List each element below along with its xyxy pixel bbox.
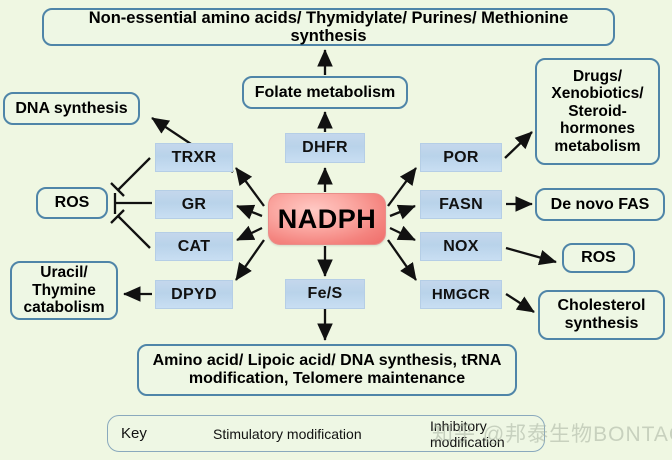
outcome-ros-left: ROS [36, 187, 108, 219]
enzyme-hmgcr: HMGCR [420, 280, 502, 309]
arrow-hub-to-hmgcr [388, 240, 416, 280]
enzyme-por: POR [420, 143, 502, 172]
nadph-hub: NADPH [268, 193, 386, 245]
arrow-hub-to-cat [237, 228, 262, 240]
outcome-de-novo-fas: De novo FAS [535, 188, 665, 221]
arrow-hub-to-dpyd [236, 240, 264, 280]
enzyme-cat: CAT [155, 232, 233, 261]
arrow-hub-to-nox [390, 228, 415, 240]
legend-stimulatory-label: Stimulatory modification [213, 426, 362, 442]
enzyme-fes: Fe/S [285, 279, 365, 309]
outcome-ros-right: ROS [562, 243, 635, 273]
enzyme-gr: GR [155, 190, 233, 219]
inhibitory-arrows-left [111, 158, 152, 248]
arrow-hub-to-gr [237, 206, 262, 216]
arrow-por-to-drugs [505, 132, 532, 158]
arrow-hub-to-fasn [390, 206, 415, 216]
enzyme-fasn: FASN [420, 190, 502, 219]
legend-title: Key [121, 425, 147, 442]
arrow-hmgcr-to-cholesterol [506, 294, 534, 312]
outcome-dna-synthesis: DNA synthesis [3, 92, 140, 125]
outcome-top-synthesis: Non-essential amino acids/ Thymidylate/ … [42, 8, 615, 46]
watermark: 知乎 @邦泰生物BONTAC [432, 418, 672, 448]
outcome-uracil-thymine-catabolism: Uracil/ Thymine catabolism [10, 261, 118, 320]
outcome-folate-metabolism: Folate metabolism [242, 76, 408, 109]
arrow-hub-to-por [388, 168, 416, 206]
arrow-hub-to-trxr [236, 168, 264, 206]
outcome-bottom-amino-acid: Amino acid/ Lipoic acid/ DNA synthesis, … [137, 344, 517, 396]
outcome-drugs-xenobiotics-steroid: Drugs/ Xenobiotics/ Steroid- hormones me… [535, 58, 660, 165]
outcome-cholesterol-synthesis: Cholesterol synthesis [538, 290, 665, 340]
enzyme-nox: NOX [420, 232, 502, 261]
enzyme-trxr: TRXR [155, 143, 233, 172]
diagram-canvas: Non-essential amino acids/ Thymidylate/ … [0, 0, 672, 460]
enzyme-dpyd: DPYD [155, 280, 233, 309]
arrow-nox-to-ros [506, 248, 556, 262]
enzyme-dhfr: DHFR [285, 133, 365, 163]
